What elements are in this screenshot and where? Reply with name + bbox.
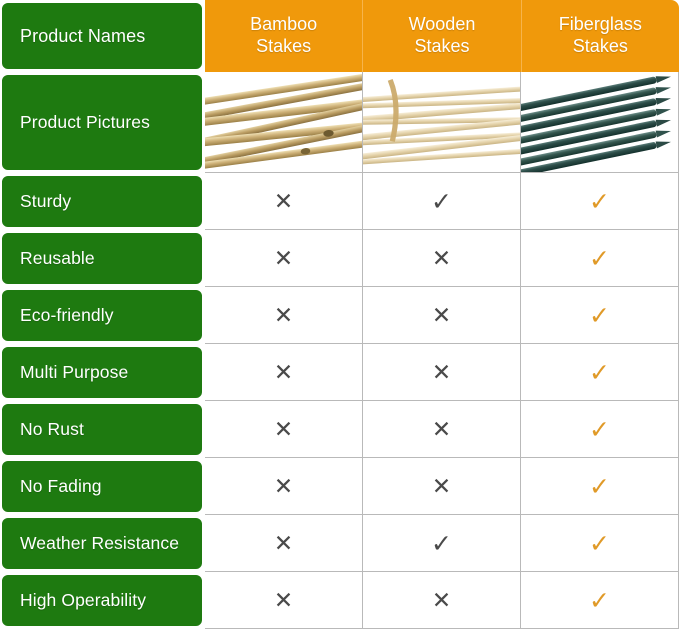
wooden-stakes-photo bbox=[363, 72, 520, 172]
feature-value-cell: ✓ bbox=[521, 458, 679, 515]
product-comparison-table: Product Names Bamboo Stakes Wooden Stake… bbox=[0, 0, 679, 633]
check-icon: ✓ bbox=[589, 189, 610, 214]
cross-icon: ✕ bbox=[432, 247, 451, 270]
cross-icon: ✕ bbox=[432, 418, 451, 441]
check-icon: ✓ bbox=[589, 531, 610, 556]
cross-icon: ✕ bbox=[432, 475, 451, 498]
feature-value-cell: ✓ bbox=[521, 287, 679, 344]
feature-value-cell: ✓ bbox=[363, 173, 521, 230]
cross-icon: ✕ bbox=[274, 475, 293, 498]
cross-icon: ✕ bbox=[274, 247, 293, 270]
feature-label-wrap: Eco-friendly bbox=[0, 287, 205, 344]
column-header-fiberglass-line1: Fiberglass bbox=[559, 14, 642, 36]
feature-value-cell: ✓ bbox=[521, 572, 679, 629]
check-icon: ✓ bbox=[589, 417, 610, 442]
feature-value-cell: ✕ bbox=[205, 458, 363, 515]
column-header-wooden-line1: Wooden bbox=[409, 14, 476, 36]
feature-value-cell: ✕ bbox=[205, 344, 363, 401]
bamboo-stakes-illustration bbox=[205, 72, 362, 172]
check-icon: ✓ bbox=[589, 360, 610, 385]
feature-label-wrap: Sturdy bbox=[0, 173, 205, 230]
column-header-wooden: Wooden Stakes bbox=[363, 0, 521, 72]
feature-label-wrap: Weather Resistance bbox=[0, 515, 205, 572]
feature-label-wrap: Reusable bbox=[0, 230, 205, 287]
feature-label: Weather Resistance bbox=[1, 517, 203, 570]
check-icon: ✓ bbox=[589, 303, 610, 328]
feature-value-cell: ✕ bbox=[363, 458, 521, 515]
fiberglass-stakes-illustration bbox=[521, 72, 678, 172]
feature-label: No Fading bbox=[1, 460, 203, 513]
table-row: Sturdy✕✓✓ bbox=[0, 173, 679, 230]
check-icon: ✓ bbox=[589, 588, 610, 613]
product-pictures-row: Product Pictures bbox=[0, 72, 679, 173]
cross-icon: ✕ bbox=[274, 190, 293, 213]
table-header-row: Product Names Bamboo Stakes Wooden Stake… bbox=[0, 0, 679, 72]
product-pictures-label: Product Pictures bbox=[1, 74, 203, 171]
feature-value-cell: ✕ bbox=[363, 401, 521, 458]
table-row: Eco-friendly✕✕✓ bbox=[0, 287, 679, 344]
table-row: Reusable✕✕✓ bbox=[0, 230, 679, 287]
feature-label: High Operability bbox=[1, 574, 203, 627]
feature-label: No Rust bbox=[1, 403, 203, 456]
cross-icon: ✕ bbox=[432, 589, 451, 612]
feature-value-cell: ✕ bbox=[205, 230, 363, 287]
feature-value-cell: ✕ bbox=[363, 572, 521, 629]
table-row: High Operability✕✕✓ bbox=[0, 572, 679, 629]
column-header-fiberglass: Fiberglass Stakes bbox=[522, 0, 679, 72]
feature-label: Multi Purpose bbox=[1, 346, 203, 399]
cross-icon: ✕ bbox=[274, 532, 293, 555]
feature-label: Sturdy bbox=[1, 175, 203, 228]
feature-label-wrap: High Operability bbox=[0, 572, 205, 629]
feature-value-cell: ✓ bbox=[521, 515, 679, 572]
column-header-bamboo-line1: Bamboo bbox=[250, 14, 317, 36]
column-header-bamboo-line2: Stakes bbox=[256, 36, 311, 58]
feature-value-cell: ✕ bbox=[205, 572, 363, 629]
table-row: Multi Purpose✕✕✓ bbox=[0, 344, 679, 401]
feature-value-cell: ✕ bbox=[363, 230, 521, 287]
feature-value-cell: ✕ bbox=[205, 515, 363, 572]
feature-value-cell: ✓ bbox=[521, 230, 679, 287]
table-row: Weather Resistance✕✓✓ bbox=[0, 515, 679, 572]
wooden-stakes-illustration bbox=[363, 72, 520, 172]
feature-label-wrap: No Fading bbox=[0, 458, 205, 515]
check-icon: ✓ bbox=[589, 474, 610, 499]
table-row: No Fading✕✕✓ bbox=[0, 458, 679, 515]
feature-value-cell: ✓ bbox=[363, 515, 521, 572]
check-icon: ✓ bbox=[431, 189, 452, 214]
feature-value-cell: ✕ bbox=[205, 173, 363, 230]
check-icon: ✓ bbox=[589, 246, 610, 271]
fiberglass-stakes-photo bbox=[521, 72, 678, 172]
feature-value-cell: ✕ bbox=[205, 401, 363, 458]
column-header-bamboo: Bamboo Stakes bbox=[205, 0, 363, 72]
feature-value-cell: ✕ bbox=[363, 344, 521, 401]
cross-icon: ✕ bbox=[432, 361, 451, 384]
table-row: No Rust✕✕✓ bbox=[0, 401, 679, 458]
picture-cell-fiberglass bbox=[521, 72, 679, 173]
picture-cell-wooden bbox=[363, 72, 521, 173]
bamboo-stakes-photo bbox=[205, 72, 362, 172]
cross-icon: ✕ bbox=[274, 418, 293, 441]
feature-label: Eco-friendly bbox=[1, 289, 203, 342]
cross-icon: ✕ bbox=[274, 361, 293, 384]
feature-value-cell: ✓ bbox=[521, 173, 679, 230]
cross-icon: ✕ bbox=[274, 304, 293, 327]
product-names-header: Product Names bbox=[1, 2, 203, 70]
column-header-wooden-line2: Stakes bbox=[414, 36, 469, 58]
feature-label-wrap: No Rust bbox=[0, 401, 205, 458]
feature-value-cell: ✕ bbox=[205, 287, 363, 344]
cross-icon: ✕ bbox=[432, 304, 451, 327]
column-header-fiberglass-line2: Stakes bbox=[573, 36, 628, 58]
feature-value-cell: ✓ bbox=[521, 401, 679, 458]
header-label-wrap: Product Names bbox=[0, 0, 205, 72]
feature-label-wrap: Multi Purpose bbox=[0, 344, 205, 401]
pictures-label-wrap: Product Pictures bbox=[0, 72, 205, 173]
check-icon: ✓ bbox=[431, 531, 452, 556]
cross-icon: ✕ bbox=[274, 589, 293, 612]
feature-value-cell: ✕ bbox=[363, 287, 521, 344]
feature-label: Reusable bbox=[1, 232, 203, 285]
picture-cell-bamboo bbox=[205, 72, 363, 173]
feature-value-cell: ✓ bbox=[521, 344, 679, 401]
feature-rows-container: Sturdy✕✓✓Reusable✕✕✓Eco-friendly✕✕✓Multi… bbox=[0, 173, 679, 629]
